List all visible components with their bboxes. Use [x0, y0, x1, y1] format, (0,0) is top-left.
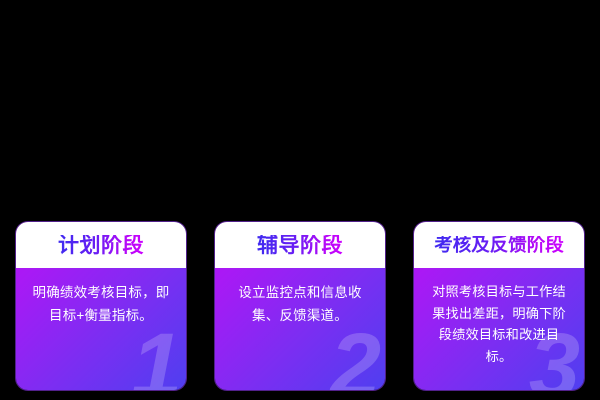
stage-card-1-header: 计划阶段	[16, 222, 186, 268]
stage-card-3-header: 考核及反馈阶段	[414, 222, 584, 268]
stage-card-3-body: 对照考核目标与工作结果找出差距，明确下阶段绩效目标和改进目标。 3	[414, 268, 584, 390]
stage-card-1-title: 计划阶段	[58, 235, 144, 256]
stage-card-3[interactable]: 考核及反馈阶段 对照考核目标与工作结果找出差距，明确下阶段绩效目标和改进目标。 …	[414, 222, 584, 390]
diagram-canvas: 计划阶段 明确绩效考核目标，即目标+衡量指标。 1 辅导阶段 设立监控点和信息收…	[0, 0, 600, 400]
stage-cards-row: 计划阶段 明确绩效考核目标，即目标+衡量指标。 1 辅导阶段 设立监控点和信息收…	[0, 222, 600, 392]
stage-card-2-body: 设立监控点和信息收集、反馈渠道。 2	[215, 268, 385, 390]
stage-card-1-body: 明确绩效考核目标，即目标+衡量指标。 1	[16, 268, 186, 390]
stage-card-2-title: 辅导阶段	[257, 235, 343, 256]
stage-card-1-number-watermark: 1	[131, 320, 182, 390]
stage-card-3-title: 考核及反馈阶段	[434, 236, 564, 255]
stage-card-2-number-watermark: 2	[330, 320, 381, 390]
stage-card-2-header: 辅导阶段	[215, 222, 385, 268]
stage-card-2-text: 设立监控点和信息收集、反馈渠道。	[227, 281, 373, 327]
stage-card-1-text: 明确绩效考核目标，即目标+衡量指标。	[28, 281, 174, 327]
stage-card-2[interactable]: 辅导阶段 设立监控点和信息收集、反馈渠道。 2	[215, 222, 385, 390]
stage-card-3-text: 对照考核目标与工作结果找出差距，明确下阶段绩效目标和改进目标。	[426, 281, 572, 367]
stage-card-1[interactable]: 计划阶段 明确绩效考核目标，即目标+衡量指标。 1	[16, 222, 186, 390]
